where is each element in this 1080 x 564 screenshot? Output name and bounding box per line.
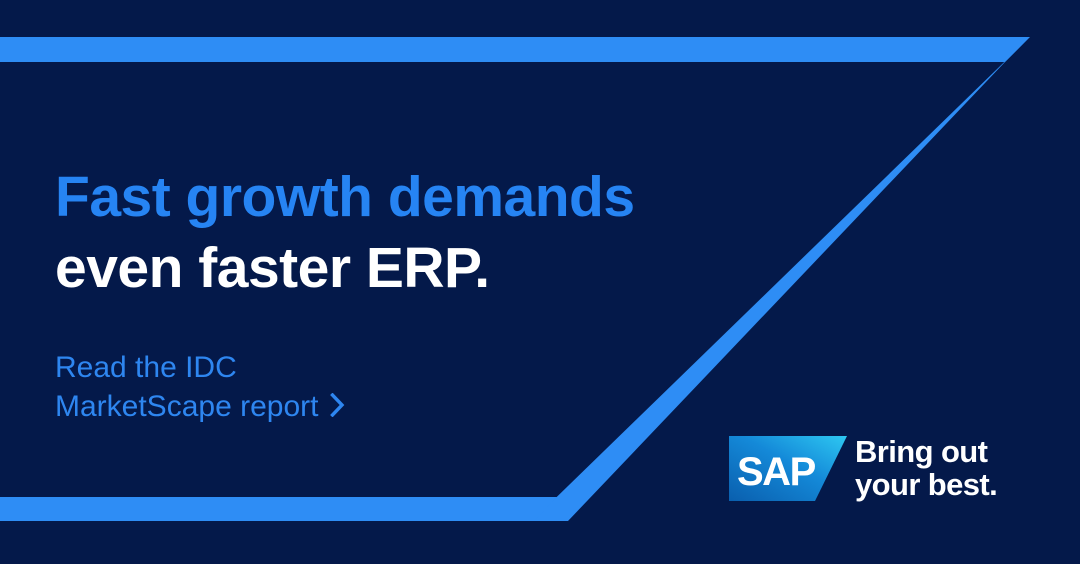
cta-label-line-2-wrapper: MarketScape report [55, 387, 415, 426]
cta-link[interactable]: Read the IDC MarketScape report [55, 348, 415, 426]
headline-line-2: even faster ERP. [55, 233, 635, 304]
headline: Fast growth demands even faster ERP. [55, 162, 635, 305]
chevron-right-icon [330, 393, 345, 417]
cta-label-line-1: Read the IDC [55, 348, 415, 387]
sap-logo-lockup: SAP Bring out your best. [729, 436, 1039, 504]
sap-tagline: Bring out your best. [855, 435, 997, 501]
sap-tagline-line-1: Bring out [855, 435, 997, 468]
cta-label-line-2: MarketScape report [55, 390, 318, 423]
sap-ad-banner: Fast growth demands even faster ERP. Rea… [0, 0, 1080, 564]
sap-logo-icon: SAP [729, 436, 847, 501]
headline-line-1: Fast growth demands [55, 162, 635, 233]
sap-tagline-line-2: your best. [855, 468, 997, 501]
sap-wordmark: SAP [737, 450, 816, 494]
